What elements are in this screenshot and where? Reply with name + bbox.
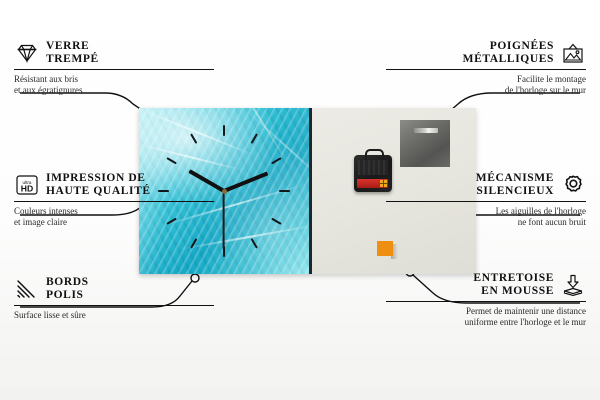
feature-subtitle-line2: uniforme entre l'horloge et le mur: [386, 317, 586, 328]
ultra-hd-icon: ultra HD: [14, 172, 40, 198]
feature-subtitle-line1: Permet de maintenir une distance: [386, 306, 586, 317]
clock-center-pin: [222, 189, 227, 194]
foam-spacer: [377, 241, 393, 256]
feature-subtitle-line1: Surface lisse et sûre: [14, 310, 214, 321]
feature-subtitle-line1: Résistant aux bris: [14, 74, 214, 85]
svg-text:HD: HD: [21, 183, 33, 193]
feature-title-line2: POLIS: [46, 289, 89, 302]
feature-impression-haute-qualite: ultra HD IMPRESSION DE HAUTE QUALITÉ Cou…: [14, 172, 214, 228]
feature-title-line2: HAUTE QUALITÉ: [46, 185, 151, 198]
feature-poignees-metalliques: POIGNÉES MÉTALLIQUES Facilite le montage…: [386, 40, 586, 96]
feature-divider: [14, 201, 214, 202]
diamond-icon: [14, 40, 40, 66]
polished-edge-icon: [14, 276, 40, 302]
feature-mecanisme-silencieux: MÉCANISME SILENCIEUX Les aiguilles de l'…: [386, 172, 586, 228]
feature-title-line1: VERRE: [46, 40, 99, 53]
feature-divider: [386, 201, 586, 202]
feature-subtitle-line2: ne font aucun bruit: [386, 217, 586, 228]
feature-divider: [386, 301, 586, 302]
mechanism-detail: [358, 160, 388, 175]
feature-divider: [14, 305, 214, 306]
feature-subtitle-line1: Les aiguilles de l'horloge: [386, 206, 586, 217]
feature-title-line2: TREMPÉ: [46, 53, 99, 66]
feature-title-line1: ENTRETOISE: [473, 272, 554, 285]
feature-title-line1: BORDS: [46, 276, 89, 289]
hanger-slot: [414, 128, 438, 133]
feature-subtitle-line1: Couleurs intenses: [14, 206, 214, 217]
feature-title-line2: EN MOUSSE: [473, 285, 554, 298]
infographic-canvas: VERRE TREMPÉ Résistant aux bris et aux é…: [0, 0, 600, 400]
feature-title-line2: SILENCIEUX: [476, 185, 554, 198]
feature-title-line1: MÉCANISME: [476, 172, 554, 185]
feature-bords-polis: BORDS POLIS Surface lisse et sûre: [14, 276, 214, 321]
clock-tick: [223, 125, 225, 136]
metal-hanger-plate: [400, 120, 450, 167]
feature-subtitle-line1: Facilite le montage: [386, 74, 586, 85]
gear-icon: [560, 172, 586, 198]
feature-divider: [14, 69, 214, 70]
clock-tick: [279, 190, 290, 192]
feature-title-line1: POIGNÉES: [463, 40, 554, 53]
feature-divider: [386, 69, 586, 70]
feature-subtitle-line2: de l'horloge sur le mur: [386, 85, 586, 96]
feature-entretoise-en-mousse: ENTRETOISE EN MOUSSE Permet de maintenir…: [386, 272, 586, 328]
feature-verre-trempe: VERRE TREMPÉ Résistant aux bris et aux é…: [14, 40, 214, 96]
feature-title-line1: IMPRESSION DE: [46, 172, 151, 185]
battery: [357, 179, 388, 188]
feature-subtitle-line2: et aux égratignures: [14, 85, 214, 96]
feature-title-line2: MÉTALLIQUES: [463, 53, 554, 66]
foam-spacer-icon: [560, 272, 586, 298]
feature-subtitle-line2: et image claire: [14, 217, 214, 228]
mechanism-hanger-loop: [365, 149, 384, 160]
clock-second-hand: [223, 191, 225, 249]
picture-hanger-icon: [560, 40, 586, 66]
